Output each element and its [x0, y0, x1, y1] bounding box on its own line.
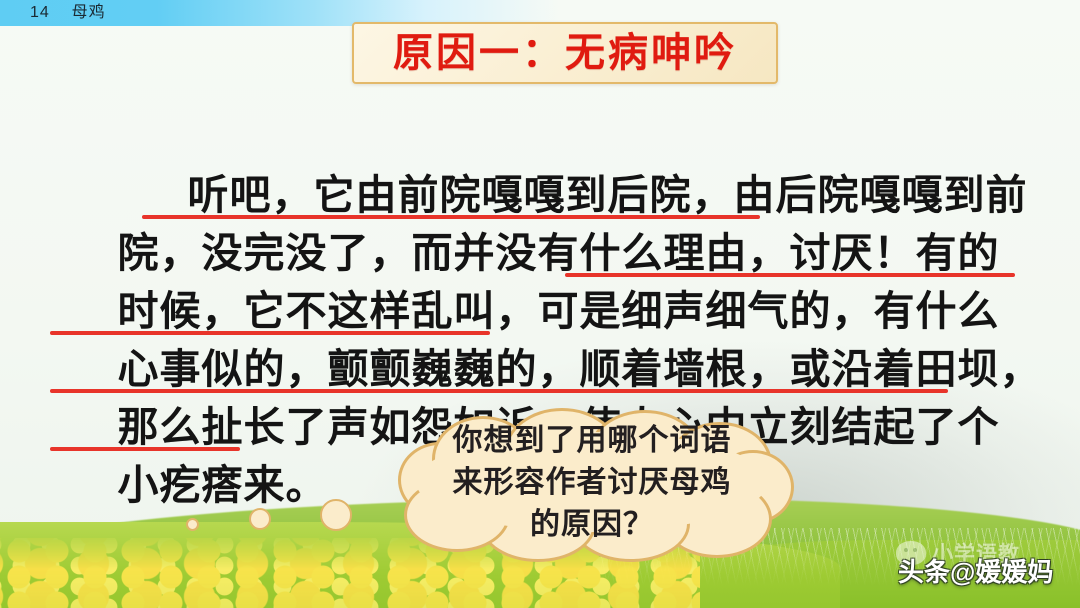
thought-trail-dot-small: [186, 518, 199, 531]
highlight-underline: [565, 273, 1015, 277]
bubble-question-text: 你想到了用哪个词语 来形容作者讨厌母鸡 的原因？: [392, 420, 792, 546]
text-line-content: 小疙瘩来。: [118, 462, 328, 508]
section-title-text: 原因一：无病呻吟: [393, 33, 737, 73]
highlight-underline: [50, 447, 240, 451]
highlight-underline: [142, 215, 760, 219]
thought-bubble: 你想到了用哪个词语 来形容作者讨厌母鸡 的原因？: [392, 408, 792, 556]
text-line: 那么扯长了声如怨如诉，使人心中立刻结起了个: [50, 340, 1040, 398]
text-line: 时候，它不这样乱叫，可是细声细气的，有什么: [50, 224, 1040, 282]
lesson-header-label: 14 母鸡: [30, 1, 106, 25]
section-title-box: 原因一：无病呻吟: [352, 22, 778, 84]
text-line: 院，没完没了，而并没有什么理由，讨厌！有的: [50, 166, 1040, 224]
slide-canvas: 14 母鸡 原因一：无病呻吟 听吧，它由前院嘎嘎到后院，由后院嘎嘎到前 院，没完…: [0, 0, 1080, 608]
highlight-underline: [50, 331, 490, 335]
thought-trail-dot-medium: [249, 508, 271, 530]
passage-text: 听吧，它由前院嘎嘎到后院，由后院嘎嘎到前 院，没完没了，而并没有什么理由，讨厌！…: [50, 108, 1040, 456]
highlight-underline: [50, 389, 948, 393]
thought-trail-dot-large: [320, 499, 352, 531]
text-line: 听吧，它由前院嘎嘎到后院，由后院嘎嘎到前: [50, 108, 1040, 166]
watermark-author: 头条@媛媛妈: [898, 556, 1078, 588]
text-line: 心事似的，颤颤巍巍的，顺着墙根，或沿着田坝，: [50, 282, 1040, 340]
